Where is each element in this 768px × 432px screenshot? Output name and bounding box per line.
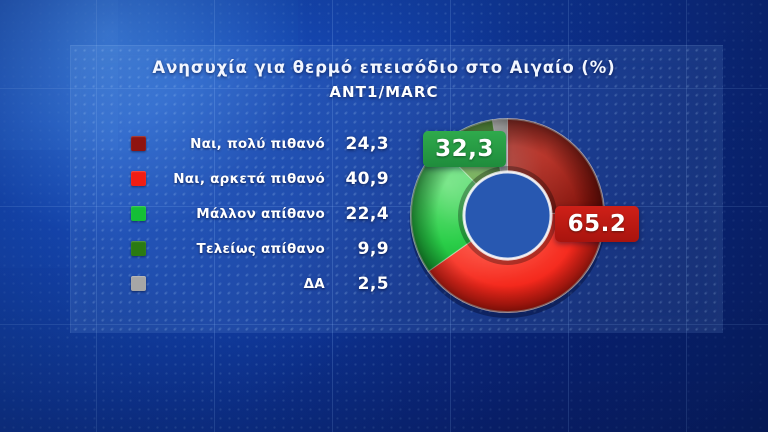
legend-item-value: 2,5 (337, 274, 389, 294)
legend-item[interactable]: Μάλλον απίθανο 22,4 (131, 198, 389, 229)
slide-canvas: Ανησυχία για θερμό επεισόδιο στο Αιγαίο … (0, 0, 768, 432)
donut-hole (462, 170, 554, 262)
callout-green-total: 32,3 (423, 131, 506, 167)
chart-subtitle: ANT1/MARC (0, 83, 768, 101)
legend-item-label: Ναι, αρκετά πιθανό (146, 171, 337, 187)
legend-swatch-icon (131, 206, 146, 221)
legend-item-value: 24,3 (337, 134, 389, 154)
legend-swatch-icon (131, 136, 146, 151)
legend-swatch-icon (131, 171, 146, 186)
legend-item-label: ΔΑ (146, 276, 337, 292)
legend-item-value: 9,9 (337, 239, 389, 259)
legend-item[interactable]: Ναι, αρκετά πιθανό 40,9 (131, 163, 389, 194)
legend-swatch-icon (131, 241, 146, 256)
legend-item[interactable]: Τελείως απίθανο 9,9 (131, 233, 389, 264)
legend-item-value: 40,9 (337, 169, 389, 189)
legend-item-label: Μάλλον απίθανο (146, 206, 337, 222)
legend-item-label: Ναι, πολύ πιθανό (146, 136, 337, 152)
chart-title: Ανησυχία για θερμό επεισόδιο στο Αιγαίο … (0, 58, 768, 77)
callout-red-total: 65.2 (555, 206, 639, 242)
legend-item-value: 22,4 (337, 204, 389, 224)
legend-item-label: Τελείως απίθανο (146, 241, 337, 257)
legend-item[interactable]: ΔΑ 2,5 (131, 268, 389, 299)
legend-item[interactable]: Ναι, πολύ πιθανό 24,3 (131, 128, 389, 159)
legend-swatch-icon (131, 276, 146, 291)
chart-legend: Ναι, πολύ πιθανό 24,3 Ναι, αρκετά πιθανό… (131, 128, 389, 303)
